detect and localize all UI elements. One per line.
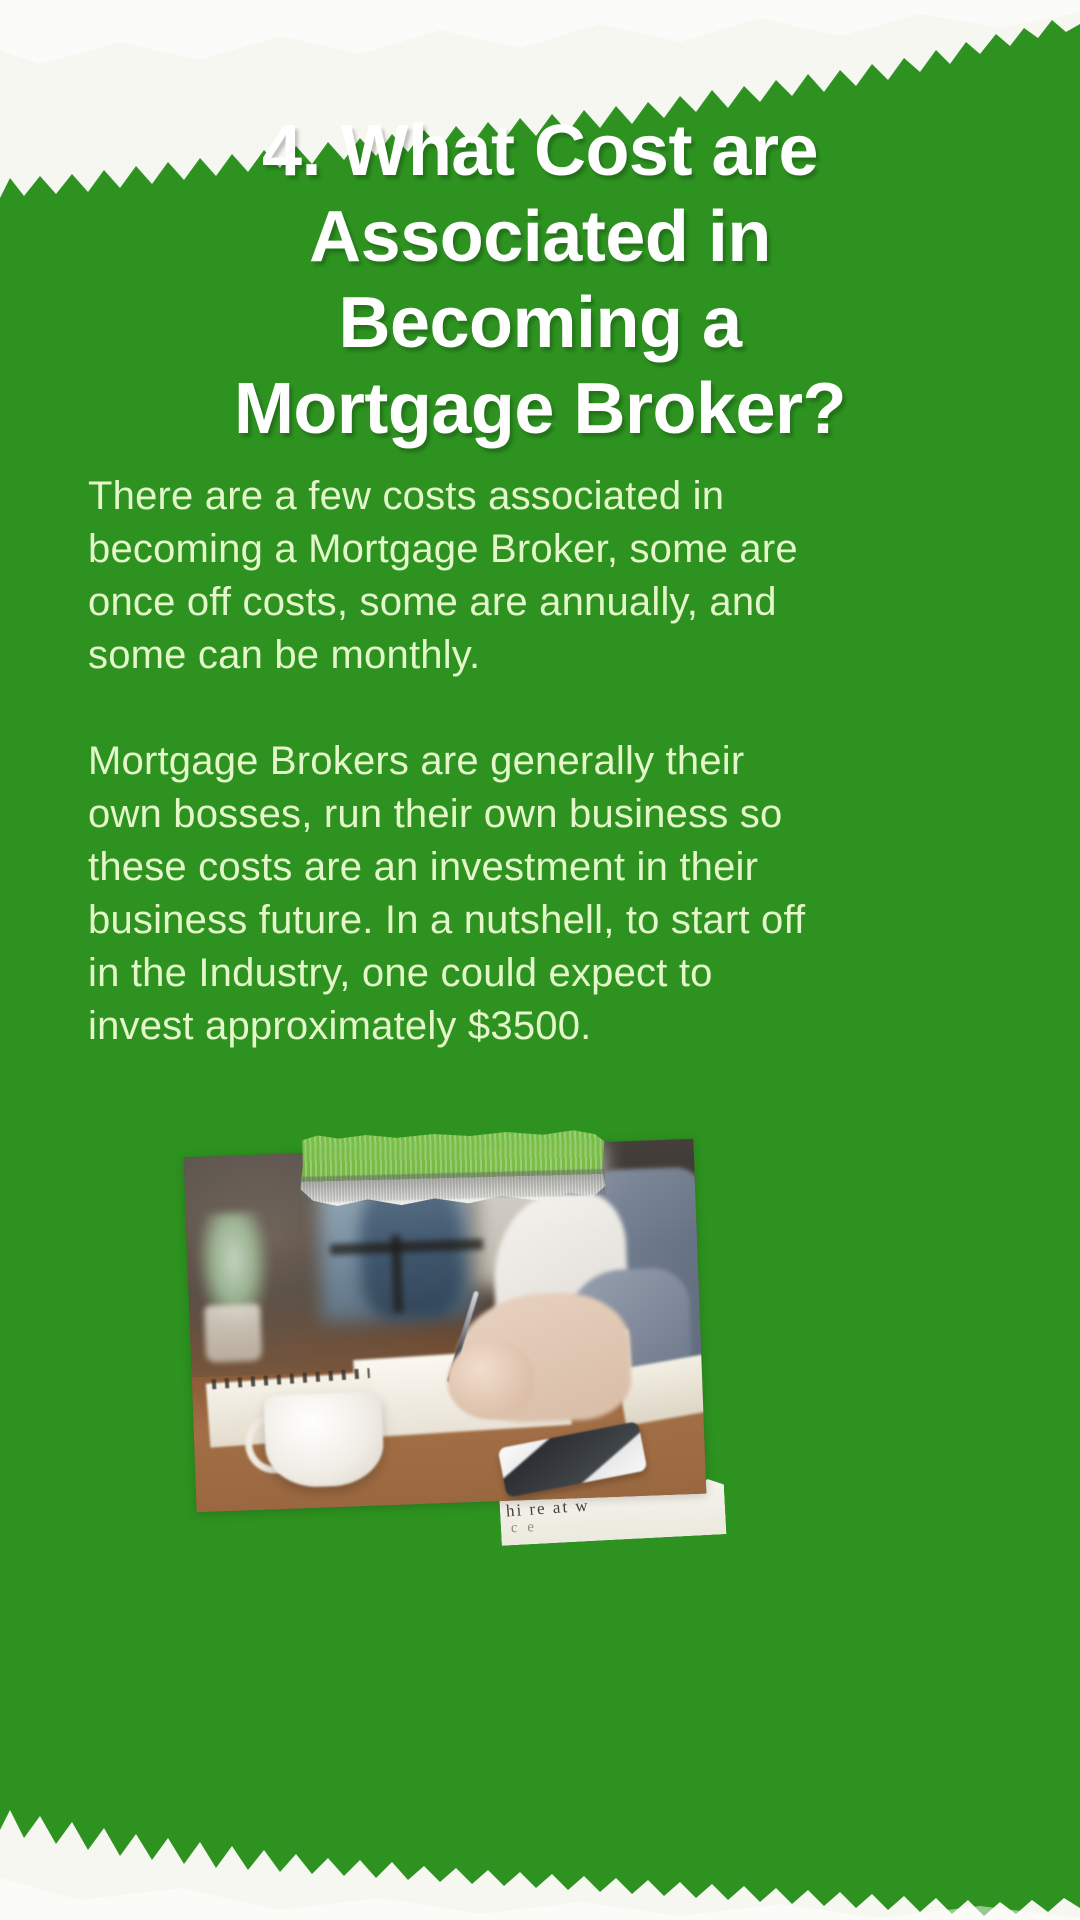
title-line-3: Becoming a (40, 280, 1040, 366)
title-line-2: Associated in (40, 194, 1040, 280)
poster-canvas: 4. What Cost are Associated in Becoming … (0, 0, 1080, 1920)
torn-paper-bottom-edge (0, 1722, 1080, 1920)
title-line-4: Mortgage Broker? (40, 366, 1040, 452)
body-paragraph-1: There are a few costs associated in beco… (88, 470, 818, 682)
washi-tape-strip (299, 1128, 606, 1210)
body-paragraph-2: Mortgage Brokers are generally their own… (88, 735, 818, 1053)
page-title: 4. What Cost are Associated in Becoming … (0, 108, 1080, 452)
title-line-1: 4. What Cost are (40, 108, 1040, 194)
body-copy: There are a few costs associated in beco… (88, 470, 818, 1053)
photo-collage: hi re at w c e (175, 1110, 735, 1540)
